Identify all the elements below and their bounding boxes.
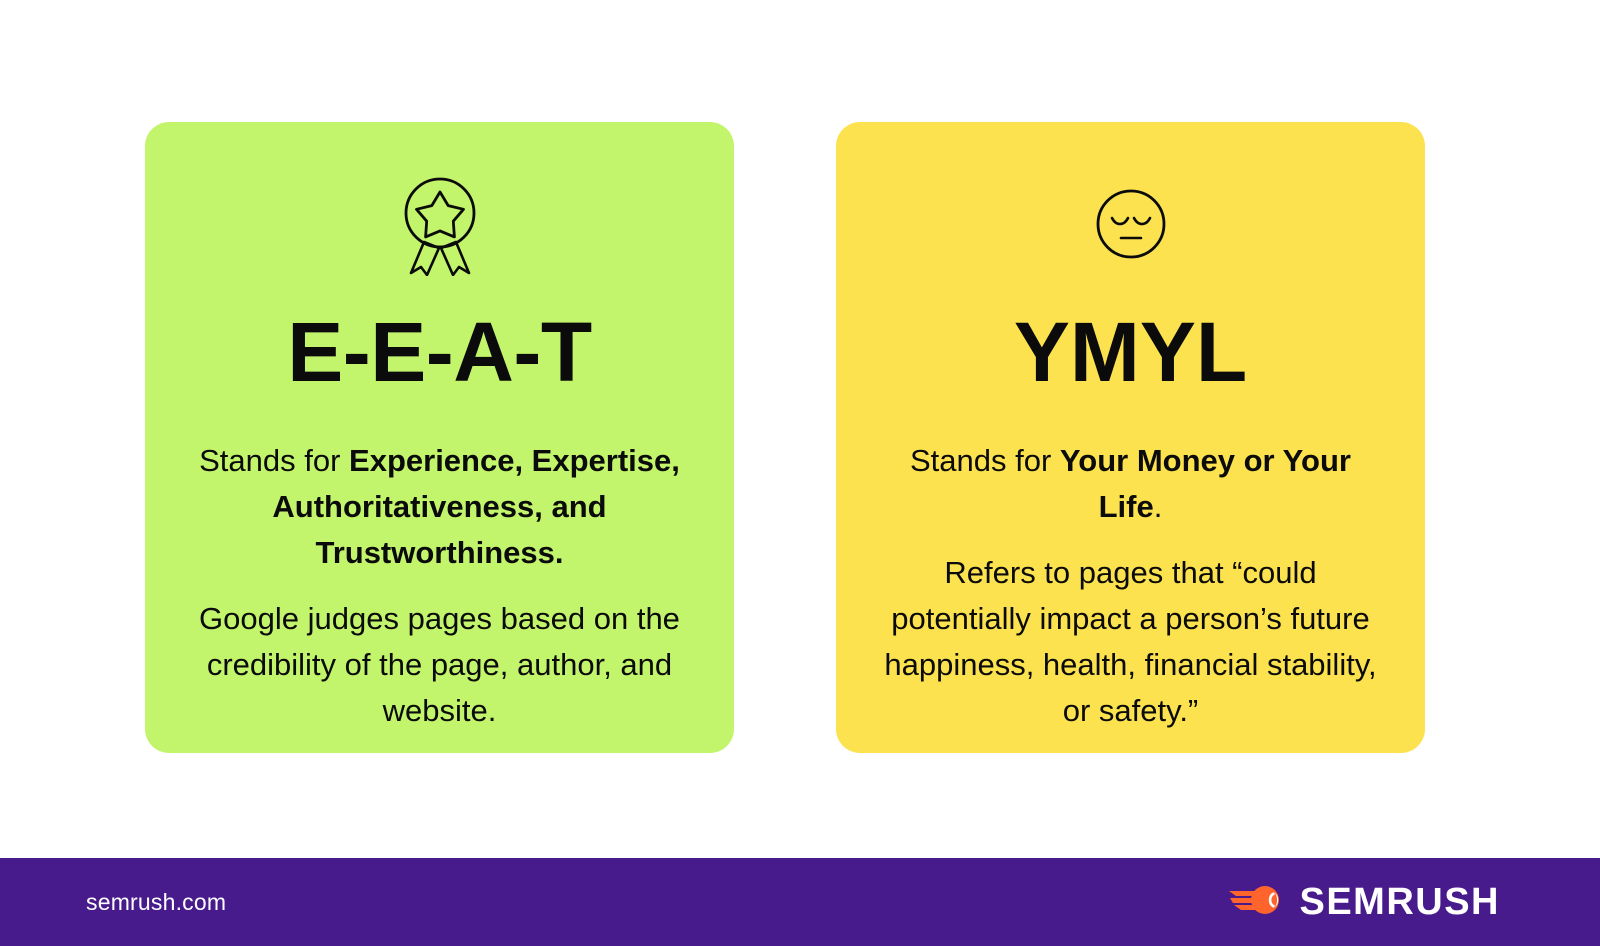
footer-website-url[interactable]: semrush.com	[86, 889, 226, 916]
card-eeat: E-E-A-T Stands for Experience, Expertise…	[145, 122, 734, 753]
card-paragraph: Stands for Experience, Expertise, Author…	[190, 438, 690, 576]
semrush-brand-lockup[interactable]: SEMRUSH	[1229, 880, 1500, 925]
card-body-eeat: Stands for Experience, Expertise, Author…	[190, 438, 690, 734]
card-title-ymyl: YMYL	[1014, 310, 1247, 394]
card-paragraph: Refers to pages that “could potentially …	[881, 550, 1381, 734]
card-title-eeat: E-E-A-T	[287, 310, 591, 394]
card-paragraph: Stands for Your Money or Your Life.	[881, 438, 1381, 530]
sad-face-icon	[1091, 170, 1171, 278]
cards-container: E-E-A-T Stands for Experience, Expertise…	[0, 0, 1600, 858]
award-badge-icon	[394, 170, 486, 278]
card-body-ymyl: Stands for Your Money or Your Life. Refe…	[881, 438, 1381, 734]
footer-bar: semrush.com SEMRUSH	[0, 858, 1600, 946]
card-paragraph: Google judges pages based on the credibi…	[190, 596, 690, 734]
card-ymyl: YMYL Stands for Your Money or Your Life.…	[836, 122, 1425, 753]
semrush-comet-logo-icon	[1229, 880, 1285, 925]
semrush-wordmark: SEMRUSH	[1299, 881, 1500, 924]
